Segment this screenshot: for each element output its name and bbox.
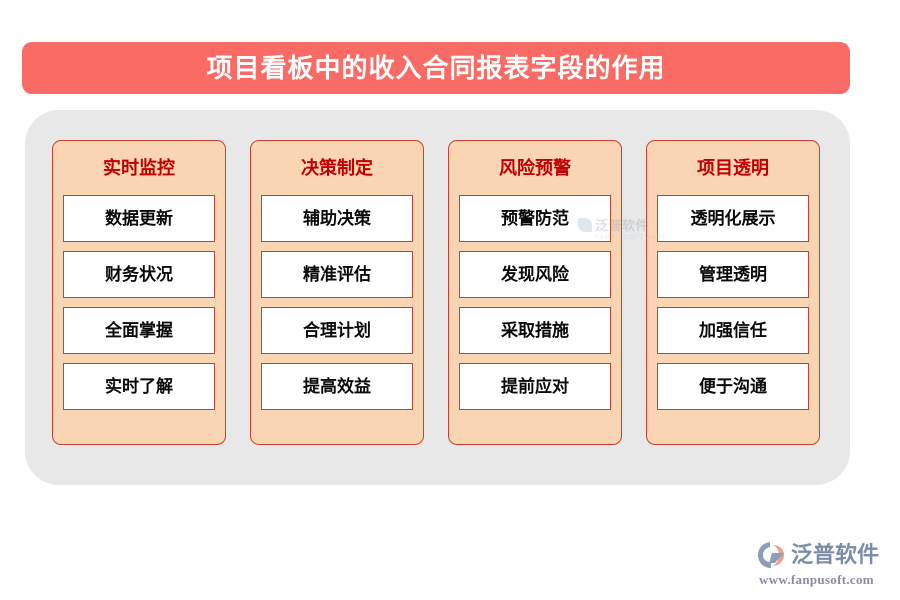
list-item[interactable]: 便于沟通 — [657, 363, 809, 410]
list-item[interactable]: 管理透明 — [657, 251, 809, 298]
list-item[interactable]: 加强信任 — [657, 307, 809, 354]
item-label: 预警防范 — [501, 210, 569, 227]
item-label: 辅助决策 — [303, 210, 371, 227]
column-items: 数据更新 财务状况 全面掌握 实时了解 — [63, 195, 215, 410]
item-label: 采取措施 — [501, 322, 569, 339]
category-column-xiangmutouming: 项目透明 透明化展示 管理透明 加强信任 便于沟通 — [646, 140, 820, 445]
item-label: 发现风险 — [501, 266, 569, 283]
list-item[interactable]: 发现风险 — [459, 251, 611, 298]
brand-logo: 泛普软件 www.fanpusoft.com — [757, 540, 897, 592]
column-items: 辅助决策 精准评估 合理计划 提高效益 — [261, 195, 413, 410]
list-item[interactable]: 数据更新 — [63, 195, 215, 242]
list-item[interactable]: 辅助决策 — [261, 195, 413, 242]
item-label: 提高效益 — [303, 378, 371, 395]
brand-url: www.fanpusoft.com — [759, 572, 897, 588]
column-items: 预警防范 发现风险 采取措施 提前应对 — [459, 195, 611, 410]
list-item[interactable]: 全面掌握 — [63, 307, 215, 354]
brand-name: 泛普软件 — [791, 544, 879, 566]
item-label: 全面掌握 — [105, 322, 173, 339]
list-item[interactable]: 采取措施 — [459, 307, 611, 354]
list-item[interactable]: 预警防范 — [459, 195, 611, 242]
category-columns: 实时监控 数据更新 财务状况 全面掌握 实时了解 决策制定 辅助决策 精准评估 … — [52, 140, 820, 445]
list-item[interactable]: 提前应对 — [459, 363, 611, 410]
list-item[interactable]: 透明化展示 — [657, 195, 809, 242]
item-label: 数据更新 — [105, 210, 173, 227]
item-label: 加强信任 — [699, 322, 767, 339]
item-label: 透明化展示 — [691, 210, 776, 227]
list-item[interactable]: 财务状况 — [63, 251, 215, 298]
column-items: 透明化展示 管理透明 加强信任 便于沟通 — [657, 195, 809, 410]
page-title: 项目看板中的收入合同报表字段的作用 — [206, 55, 665, 81]
fanpu-logo-icon — [757, 541, 787, 569]
list-item[interactable]: 实时了解 — [63, 363, 215, 410]
list-item[interactable]: 精准评估 — [261, 251, 413, 298]
item-label: 便于沟通 — [699, 378, 767, 395]
item-label: 合理计划 — [303, 322, 371, 339]
category-column-juecezhiding: 决策制定 辅助决策 精准评估 合理计划 提高效益 — [250, 140, 424, 445]
column-header: 决策制定 — [301, 141, 373, 195]
brand-top-row: 泛普软件 — [757, 540, 897, 570]
item-label: 财务状况 — [105, 266, 173, 283]
column-header: 风险预警 — [499, 141, 571, 195]
title-banner: 项目看板中的收入合同报表字段的作用 — [22, 42, 850, 94]
item-label: 实时了解 — [105, 378, 173, 395]
item-label: 管理透明 — [699, 266, 767, 283]
category-column-shishijiankong: 实时监控 数据更新 财务状况 全面掌握 实时了解 — [52, 140, 226, 445]
column-header: 实时监控 — [103, 141, 175, 195]
column-header: 项目透明 — [697, 141, 769, 195]
list-item[interactable]: 合理计划 — [261, 307, 413, 354]
category-column-fengxianyujing: 风险预警 预警防范 发现风险 采取措施 提前应对 — [448, 140, 622, 445]
item-label: 精准评估 — [303, 266, 371, 283]
item-label: 提前应对 — [501, 378, 569, 395]
list-item[interactable]: 提高效益 — [261, 363, 413, 410]
